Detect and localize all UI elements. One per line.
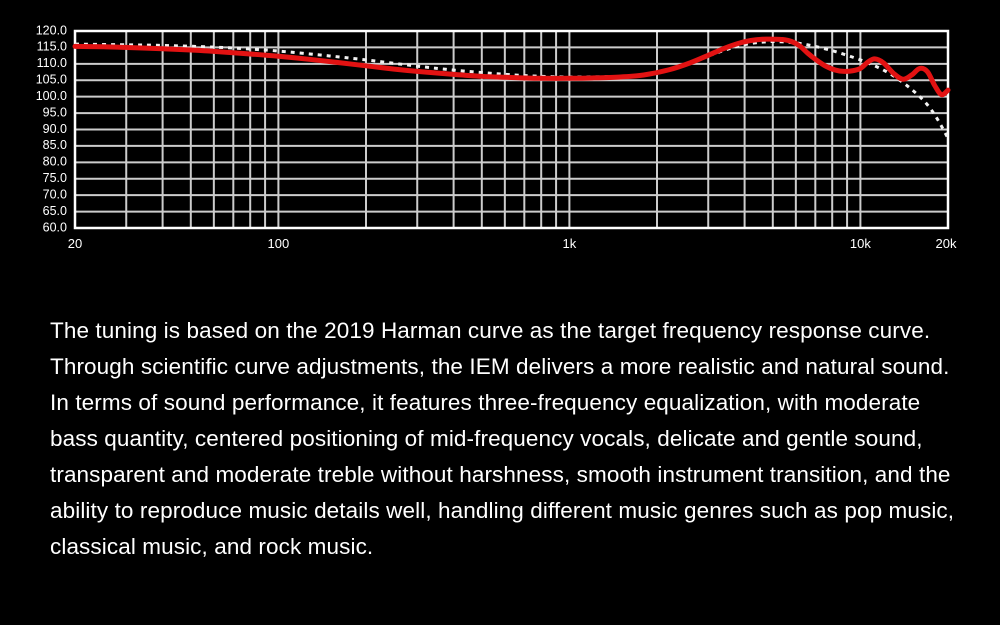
frequency-response-chart: 120.0115.0110.0105.0100.095.090.085.080.… [0, 0, 1000, 270]
y-tick-label: 105.0 [36, 73, 67, 87]
x-tick-label: 20 [68, 236, 82, 251]
x-tick-label: 10k [850, 236, 871, 251]
y-tick-label: 120.0 [36, 23, 67, 37]
page-root: 120.0115.0110.0105.0100.095.090.085.080.… [0, 0, 1000, 625]
description-paragraph: The tuning is based on the 2019 Harman c… [50, 313, 972, 565]
y-tick-label: 65.0 [43, 204, 67, 218]
y-tick-label: 95.0 [43, 105, 67, 119]
x-tick-label: 20k [936, 236, 957, 251]
y-tick-label: 70.0 [43, 187, 67, 201]
y-tick-label: 85.0 [43, 138, 67, 152]
y-tick-label: 90.0 [43, 122, 67, 136]
y-tick-label: 115.0 [37, 40, 67, 54]
x-tick-label: 1k [563, 236, 577, 251]
y-tick-label: 110.0 [37, 56, 67, 70]
chart-background [0, 0, 1000, 270]
x-tick-label: 100 [268, 236, 290, 251]
y-tick-label: 60.0 [43, 220, 67, 234]
chart-canvas: 120.0115.0110.0105.0100.095.090.085.080.… [0, 0, 1000, 270]
y-tick-label: 75.0 [43, 171, 67, 185]
y-tick-label: 80.0 [43, 155, 67, 169]
y-tick-label: 100.0 [36, 89, 67, 103]
